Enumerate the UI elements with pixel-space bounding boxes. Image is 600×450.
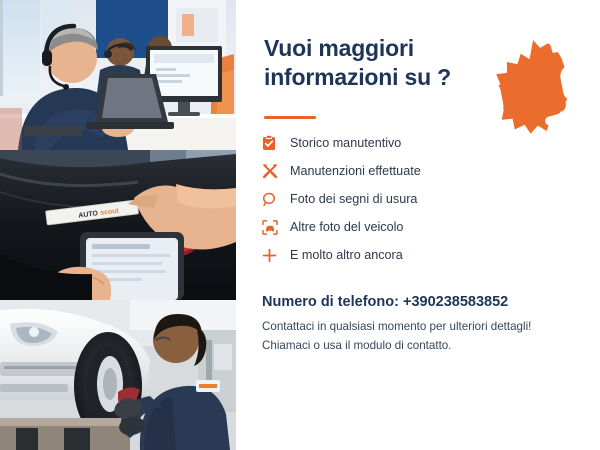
plus-icon [262, 244, 290, 266]
photo-column: AUTO scout [0, 0, 236, 450]
list-item: Manutenzioni effettuate [262, 157, 562, 185]
call-center-agents-photo [0, 0, 236, 150]
car-scan-frame-icon [262, 216, 290, 238]
clipboard-check-icon [262, 132, 290, 154]
contact-copy-line-1: Contattaci in qualsiasi momento per ulte… [262, 318, 582, 337]
phone-number[interactable]: +390238583852 [403, 294, 508, 310]
feature-label: Altre foto del veicolo [290, 220, 403, 234]
contact-copy: Contattaci in qualsiasi momento per ulte… [262, 318, 582, 356]
headline-line-2: informazioni su ? [264, 63, 474, 92]
vehicle-inspection-photo: AUTO scout [0, 150, 236, 300]
feature-list: Storico manutentivo Manutenzioni effettu… [262, 129, 562, 269]
feature-label: E molto altro ancora [290, 248, 403, 262]
tools-wrench-screwdriver-icon [262, 160, 290, 182]
list-item: E molto altro ancora [262, 241, 562, 269]
feature-label: Foto dei segni di usura [290, 192, 417, 206]
phone-label: Numero di telefono: [262, 294, 399, 310]
magnifier-icon [262, 188, 290, 210]
promo-card: AUTO scout [0, 0, 600, 450]
list-item: Altre foto del veicolo [262, 213, 562, 241]
headline-line-1: Vuoi maggiori [264, 34, 474, 63]
feature-label: Manutenzioni effettuate [290, 164, 421, 178]
contact-copy-line-2: Chiamaci o usa il modulo di contatto. [262, 337, 582, 356]
phone-number-line: Numero di telefono: +390238583852 [262, 294, 508, 310]
feature-label: Storico manutentivo [290, 136, 401, 150]
headline-divider [264, 116, 316, 119]
mechanic-wheel-photo [0, 300, 236, 450]
page-title: Vuoi maggiori informazioni su ? [264, 34, 474, 93]
list-item: Storico manutentivo [262, 129, 562, 157]
content-panel: Vuoi maggiori informazioni su ? [236, 0, 600, 450]
list-item: Foto dei segni di usura [262, 185, 562, 213]
